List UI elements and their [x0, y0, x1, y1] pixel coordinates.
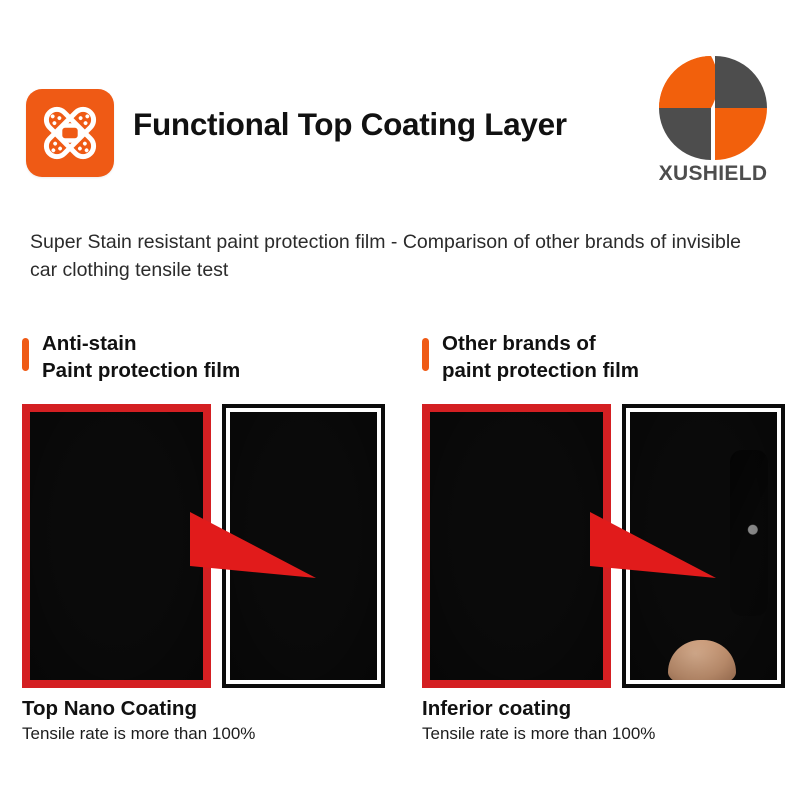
photo-vignette: [230, 412, 377, 680]
caption-title: Top Nano Coating: [22, 696, 392, 722]
photo-frame-secondary: [222, 404, 385, 688]
column-heading: Anti-stain Paint protection film: [20, 330, 405, 392]
photo-vignette: [30, 412, 203, 680]
background-cable: [730, 450, 768, 616]
heading-marker-bar: [422, 338, 429, 371]
heading-line-2: Paint protection film: [42, 357, 405, 384]
caption-subtext: Tensile rate is more than 100%: [22, 723, 392, 745]
photo-anti-stain-closeup: [230, 412, 377, 680]
photo-frame-primary: [22, 404, 211, 688]
column-caption: Inferior coating Tensile rate is more th…: [422, 696, 792, 745]
column-caption: Top Nano Coating Tensile rate is more th…: [22, 696, 392, 745]
page-title: Functional Top Coating Layer: [133, 106, 633, 144]
photo-other-brand-wide: [430, 412, 603, 680]
caption-subtext: Tensile rate is more than 100%: [422, 723, 792, 745]
photo-anti-stain-wide: [30, 412, 203, 680]
xushield-logo: XUSHIELD: [648, 54, 778, 194]
header: Functional Top Coating Layer XUSHIELD: [0, 0, 800, 210]
column-heading: Other brands of paint protection film: [420, 330, 800, 392]
photo-pair: [22, 404, 385, 688]
comparison-column-anti-stain: Anti-stain Paint protection film To: [20, 330, 405, 392]
heading-line-2: paint protection film: [442, 357, 800, 384]
subtitle: Super Stain resistant paint protection f…: [30, 229, 760, 284]
photo-other-brand-closeup: [630, 412, 777, 680]
caption-title: Inferior coating: [422, 696, 792, 722]
comparison-column-other-brands: Other brands of paint protection film: [420, 330, 800, 392]
photo-frame-secondary: [622, 404, 785, 688]
photo-frame-primary: [422, 404, 611, 688]
photo-pair: [422, 404, 785, 688]
crossed-bandages-icon: [26, 89, 114, 177]
heading-marker-bar: [22, 338, 29, 371]
hand-holding-film: [668, 640, 736, 680]
poster-canvas: Functional Top Coating Layer XUSHIELD: [0, 0, 800, 800]
heading-line-1: Anti-stain: [42, 330, 405, 357]
xushield-logo-mark: [654, 54, 772, 162]
xushield-wordmark: XUSHIELD: [648, 162, 778, 186]
photo-vignette: [430, 412, 603, 680]
heading-line-1: Other brands of: [442, 330, 800, 357]
